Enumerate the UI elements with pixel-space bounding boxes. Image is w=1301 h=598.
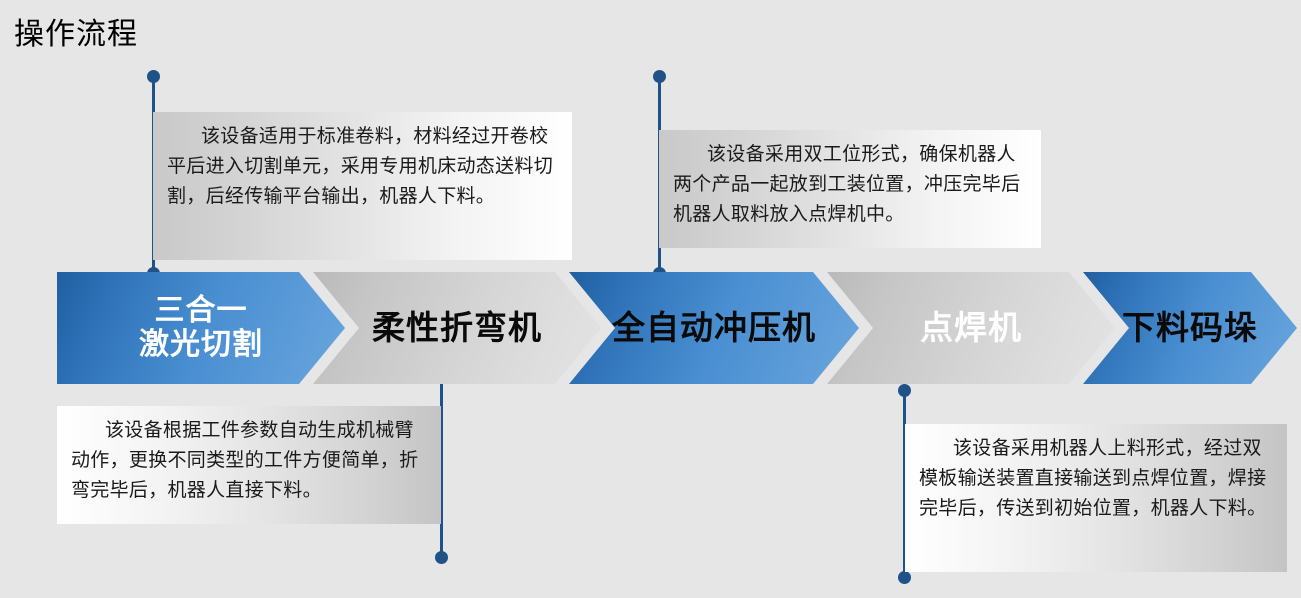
process-step-3-label: 全自动冲压机 — [612, 310, 816, 346]
process-step-4-label: 点焊机 — [920, 310, 1022, 346]
callout-box-1: 该设备适用于标准卷料，材料经过开卷校平后进入切割单元，采用专用机床动态送料切割，… — [153, 112, 572, 260]
connector-dot-top-step-1 — [147, 70, 160, 83]
callout-box-4: 该设备采用机器人上料形式，经过双模板输送装置直接输送到点焊位置，焊接完毕后，传送… — [905, 424, 1287, 572]
process-flow-band: 三合一 激光切割 柔性折弯机 全自动冲压机 点焊机 下料码垛 — [57, 272, 1297, 384]
process-step-2[interactable]: 柔性折弯机 — [313, 272, 601, 384]
process-step-5-label: 下料码垛 — [1122, 310, 1258, 346]
connector-dot-bottom-step-4 — [898, 571, 911, 584]
process-step-1-label: 三合一 激光切割 — [139, 294, 263, 362]
connector-dot-top-step-4 — [898, 384, 911, 397]
callout-text-2: 该设备采用双工位形式，确保机器人两个产品一起放到工装位置，冲压完毕后机器人取料放… — [673, 144, 1020, 225]
page-title: 操作流程 — [14, 16, 138, 54]
process-step-2-label: 柔性折弯机 — [372, 310, 542, 346]
callout-text-4: 该设备采用机器人上料形式，经过双模板输送装置直接输送到点焊位置，焊接完毕后，传送… — [919, 438, 1266, 519]
connector-dot-top-step-3 — [653, 70, 666, 83]
process-step-4[interactable]: 点焊机 — [827, 272, 1115, 384]
connector-dot-bottom-step-2 — [435, 551, 448, 564]
callout-box-3: 该设备根据工件参数自动生成机械臂动作，更换不同类型的工件方便简单，折弯完毕后，机… — [57, 406, 441, 524]
process-step-3[interactable]: 全自动冲压机 — [569, 272, 859, 384]
diagram-canvas: 操作流程 该设备适用于标准卷料，材料经过开卷校平后进入切割单元，采用专用机床动态… — [0, 0, 1301, 598]
process-step-5[interactable]: 下料码垛 — [1083, 272, 1297, 384]
callout-text-3: 该设备根据工件参数自动生成机械臂动作，更换不同类型的工件方便简单，折弯完毕后，机… — [71, 420, 418, 501]
process-step-1[interactable]: 三合一 激光切割 — [57, 272, 345, 384]
callout-box-2: 该设备采用双工位形式，确保机器人两个产品一起放到工装位置，冲压完毕后机器人取料放… — [659, 130, 1041, 248]
callout-text-1: 该设备适用于标准卷料，材料经过开卷校平后进入切割单元，采用专用机床动态送料切割，… — [167, 126, 553, 207]
